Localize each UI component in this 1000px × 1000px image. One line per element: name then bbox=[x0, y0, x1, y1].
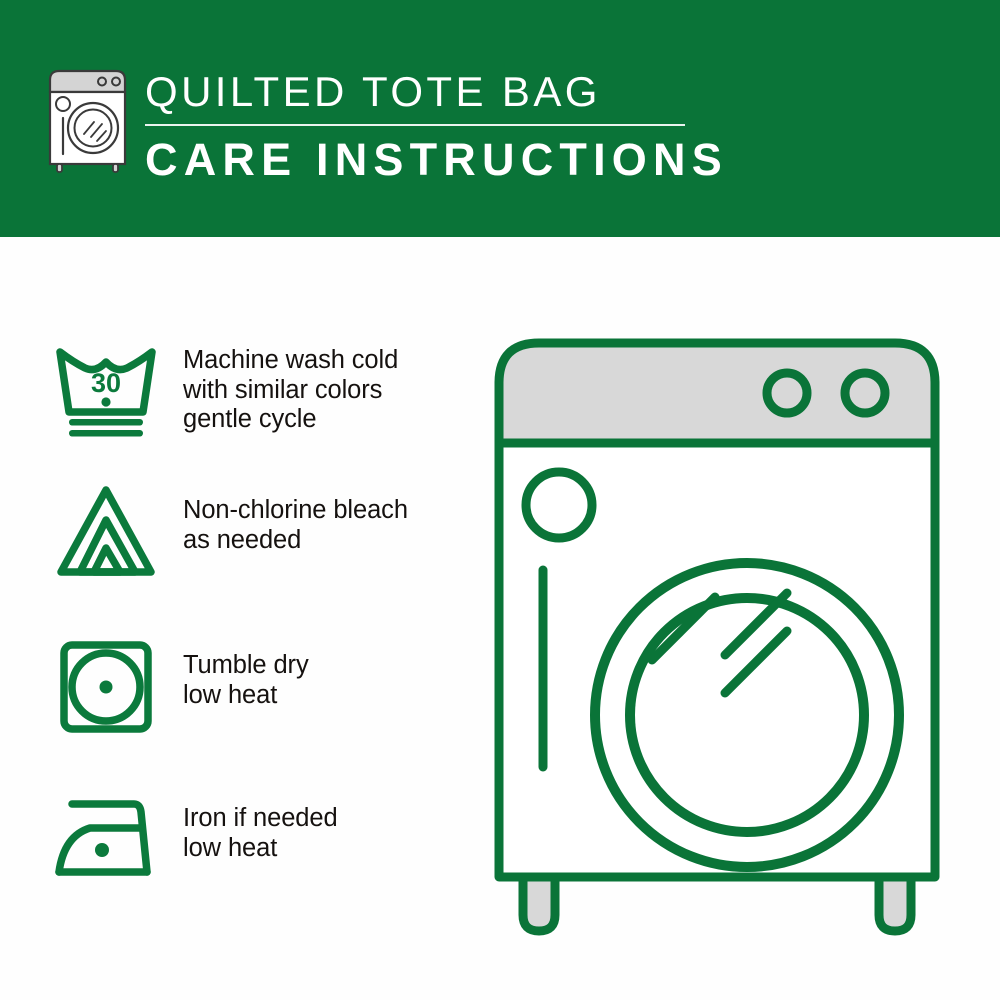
leg-left bbox=[523, 877, 555, 931]
product-title: QUILTED TOTE BAG bbox=[145, 68, 705, 116]
page-title: CARE INSTRUCTIONS bbox=[145, 134, 705, 186]
bleach-triangle-non-chlorine-icon bbox=[50, 482, 162, 582]
care-instructions-page: QUILTED TOTE BAG CARE INSTRUCTIONS 30 bbox=[0, 0, 1000, 1000]
care-row-iron: Iron if needed low heat bbox=[50, 790, 480, 890]
care-label-tumble-dry: Tumble dry low heat bbox=[183, 637, 309, 710]
wash-temperature-label: 30 bbox=[91, 368, 121, 398]
care-label-bleach: Non-chlorine bleach as needed bbox=[183, 482, 408, 555]
control-panel bbox=[499, 343, 935, 443]
care-instruction-list: 30 Machine wash cold with similar colors… bbox=[0, 237, 500, 1000]
tumble-dry-low-heat-icon bbox=[50, 637, 162, 737]
header-banner: QUILTED TOTE BAG CARE INSTRUCTIONS bbox=[0, 0, 1000, 237]
washing-machine-icon bbox=[44, 66, 136, 174]
leg-right bbox=[879, 877, 911, 931]
header-title-block: QUILTED TOTE BAG CARE INSTRUCTIONS bbox=[145, 68, 705, 186]
care-label-iron: Iron if needed low heat bbox=[183, 790, 338, 863]
care-label-machine-wash: Machine wash cold with similar colors ge… bbox=[183, 340, 398, 435]
wash-tub-30-gentle-icon: 30 bbox=[50, 340, 162, 440]
title-divider bbox=[145, 124, 685, 126]
care-row-machine-wash: 30 Machine wash cold with similar colors… bbox=[50, 340, 480, 440]
iron-low-heat-icon bbox=[50, 790, 162, 890]
care-row-tumble-dry: Tumble dry low heat bbox=[50, 637, 480, 737]
care-row-bleach: Non-chlorine bleach as needed bbox=[50, 482, 480, 582]
front-load-washing-machine-illustration bbox=[487, 325, 977, 945]
